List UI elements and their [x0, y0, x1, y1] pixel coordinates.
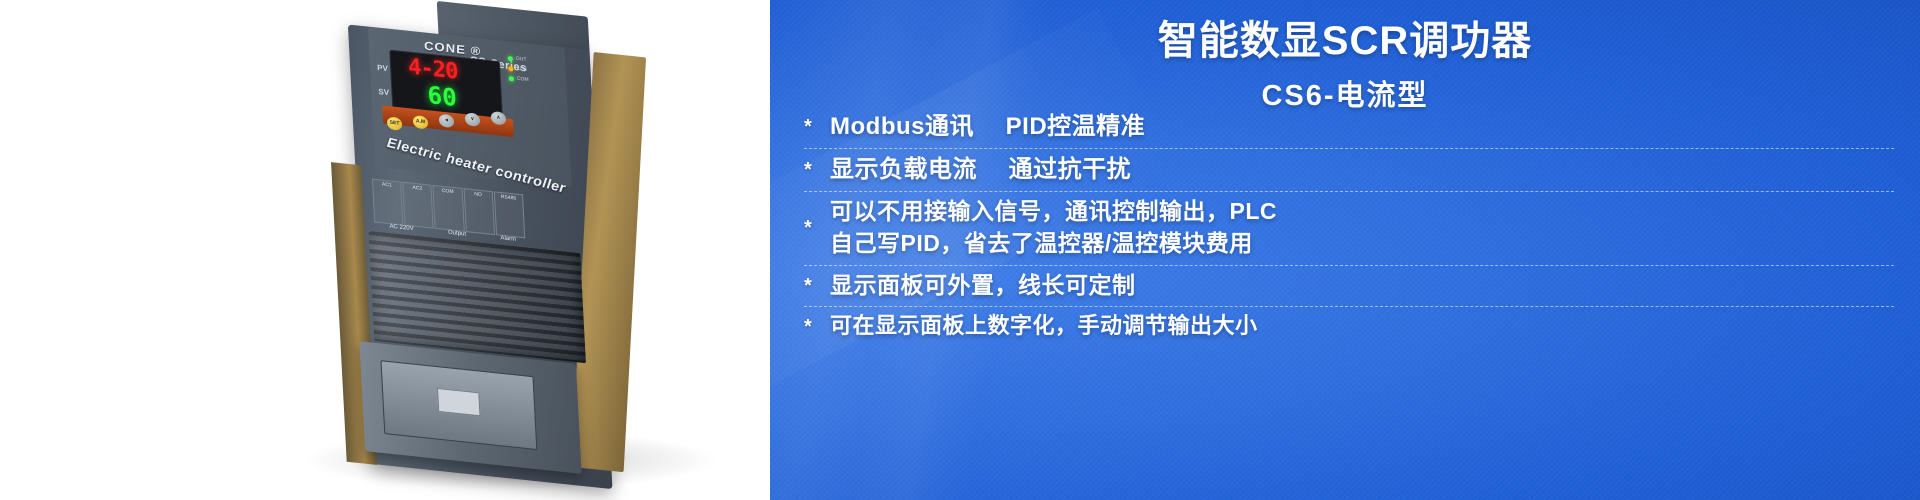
list-item: * 显示面板可外置，线长可定制 — [804, 265, 1894, 307]
bullet-star-icon: * — [804, 160, 830, 180]
pv-label: PV — [377, 63, 388, 73]
feature-text: 可以不用接输入信号，通讯控制输出，PLC 自己写PID，省去了温控器/温控模块费… — [830, 196, 1277, 259]
sv-label: SV — [378, 87, 389, 97]
terminal-no: NO — [463, 188, 495, 235]
page-title: 智能数显SCR调功器 — [770, 8, 1920, 66]
list-item: * 显示负载电流 通过抗干扰 — [804, 148, 1894, 191]
terminal-com: COM — [433, 185, 465, 232]
sv-value-readout: 60 — [427, 81, 458, 112]
bullet-star-icon: * — [804, 117, 830, 137]
bullet-star-icon: * — [804, 218, 830, 238]
alm-led — [508, 66, 513, 72]
terminal-ac1: AC1 — [372, 179, 404, 226]
bullet-star-icon: * — [804, 317, 830, 337]
terminal-rs485: RS485 — [494, 191, 526, 238]
headline-block: 智能数显SCR调功器 CS6-电流型 — [770, 0, 1920, 114]
feature-list: * Modbus通讯 PID控温精准 * 显示负载电流 通过抗干扰 * 可以不用… — [804, 106, 1894, 347]
list-item: * 可在显示面板上数字化，手动调节输出大小 — [804, 306, 1894, 346]
bullet-star-icon: * — [804, 276, 830, 296]
product-banner: CONE ® CS-Series PV SV 4-20 60 OUT ALM C… — [0, 0, 1920, 500]
list-item: * 可以不用接输入信号，通讯控制输出，PLC 自己写PID，省去了温控器/温控模… — [804, 191, 1894, 264]
feature-text: 显示负载电流 通过抗干扰 — [830, 153, 1131, 186]
status-led-labels: OUT ALM COM — [516, 54, 529, 85]
heatsink-shading — [369, 231, 586, 363]
out-led — [508, 56, 513, 62]
list-item: * Modbus通讯 PID控温精准 — [804, 106, 1894, 148]
rating-label-sticker — [437, 388, 481, 416]
feature-pane: 智能数显SCR调功器 CS6-电流型 * Modbus通讯 PID控温精准 * … — [770, 0, 1920, 500]
feature-text: Modbus通讯 PID控温精准 — [830, 110, 1145, 143]
product-photo-pane: CONE ® CS-Series PV SV 4-20 60 OUT ALM C… — [0, 0, 770, 500]
terminal-ac2: AC2 — [402, 182, 434, 229]
feature-text: 可在显示面板上数字化，手动调节输出大小 — [830, 311, 1258, 341]
feature-text: 显示面板可外置，线长可定制 — [830, 270, 1136, 302]
scr-power-regulator-photo: CONE ® CS-Series PV SV 4-20 60 OUT ALM C… — [317, 0, 712, 500]
com-led-label: COM — [517, 74, 529, 85]
com-led — [509, 76, 514, 82]
pv-value-readout: 4-20 — [407, 54, 458, 84]
